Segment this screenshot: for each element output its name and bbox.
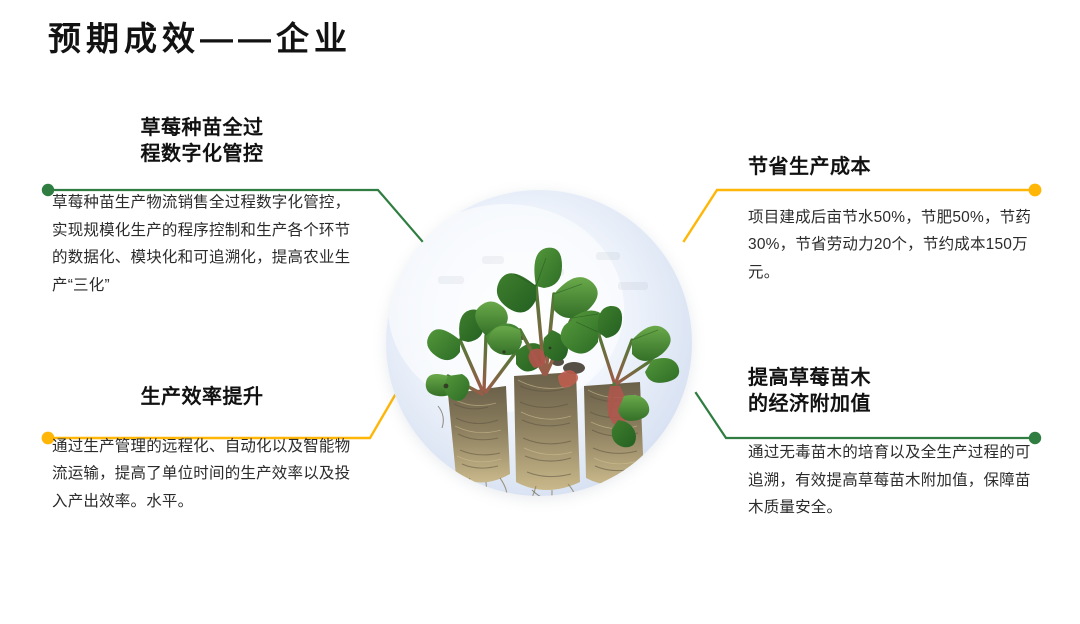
slide-canvas: 预期成效——企业 [0, 0, 1080, 624]
info-block-top-left-body: 草莓种苗生产物流销售全过程数字化管控，实现规模化生产的程序控制和生产各个环节的数… [52, 189, 352, 299]
info-block-bottom-left-heading: 生产效率提升 [52, 385, 352, 411]
info-block-bottom-right-heading: 提高草莓苗木 的经济附加值 [748, 366, 1040, 417]
info-block-bottom-right: 提高草莓苗木 的经济附加值 通过无毒苗木的培育以及全生产过程的可追溯，有效提高草… [748, 366, 1040, 522]
info-block-bottom-right-body: 通过无毒苗木的培育以及全生产过程的可追溯，有效提高草莓苗木附加值，保障苗木质量安… [748, 439, 1040, 522]
photo-artwork [386, 190, 692, 496]
info-block-top-right-body: 项目建成后亩节水50%，节肥50%，节药30%，节省劳动力20个，节约成本150… [748, 204, 1040, 287]
info-block-bottom-left: 生产效率提升 通过生产管理的远程化、自动化以及智能物流运输，提高了单位时间的生产… [52, 385, 352, 515]
info-block-top-right-heading: 节省生产成本 [748, 155, 1040, 181]
info-block-bottom-left-body: 通过生产管理的远程化、自动化以及智能物流运输，提高了单位时间的生产效率以及投入产… [52, 433, 352, 516]
info-block-top-left: 草莓种苗全过 程数字化管控 草莓种苗生产物流销售全过程数字化管控，实现规模化生产… [52, 116, 352, 300]
info-block-top-right: 节省生产成本 项目建成后亩节水50%，节肥50%，节药30%，节省劳动力20个，… [748, 155, 1040, 286]
info-block-top-left-heading: 草莓种苗全过 程数字化管控 [52, 116, 352, 167]
page-title: 预期成效——企业 [48, 18, 352, 61]
strawberry-seedlings-photo [386, 190, 692, 496]
